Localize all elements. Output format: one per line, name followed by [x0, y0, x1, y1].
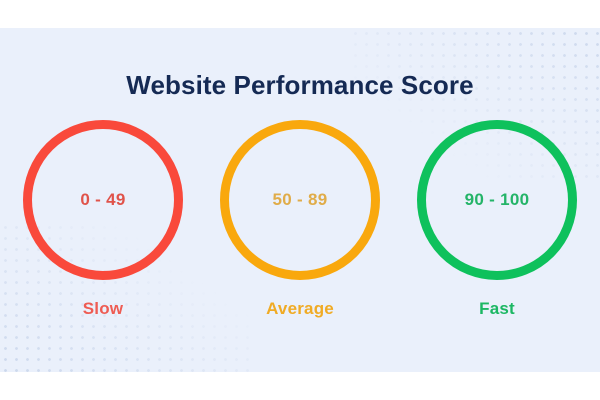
gauge-range-fast: 90 - 100 — [465, 190, 530, 210]
gauge-ring-fast: 90 - 100 — [417, 120, 577, 280]
gauge-label-average: Average — [266, 299, 334, 319]
gauge-range-slow: 0 - 49 — [80, 190, 125, 210]
gauge-item-fast: 90 - 100 Fast — [417, 120, 577, 319]
gauge-item-average: 50 - 89 Average — [220, 120, 380, 319]
gauge-label-fast: Fast — [479, 299, 515, 319]
gauge-label-slow: Slow — [83, 299, 123, 319]
gauges-row: 0 - 49 Slow 50 - 89 Average 90 - 100 Fas… — [0, 120, 600, 319]
gauge-ring-average: 50 - 89 — [220, 120, 380, 280]
gauge-ring-slow: 0 - 49 — [23, 120, 183, 280]
infographic-card: Website Performance Score 0 - 49 Slow 50… — [0, 28, 600, 372]
page-title: Website Performance Score — [0, 70, 600, 101]
gauge-item-slow: 0 - 49 Slow — [23, 120, 183, 319]
gauge-range-average: 50 - 89 — [272, 190, 327, 210]
